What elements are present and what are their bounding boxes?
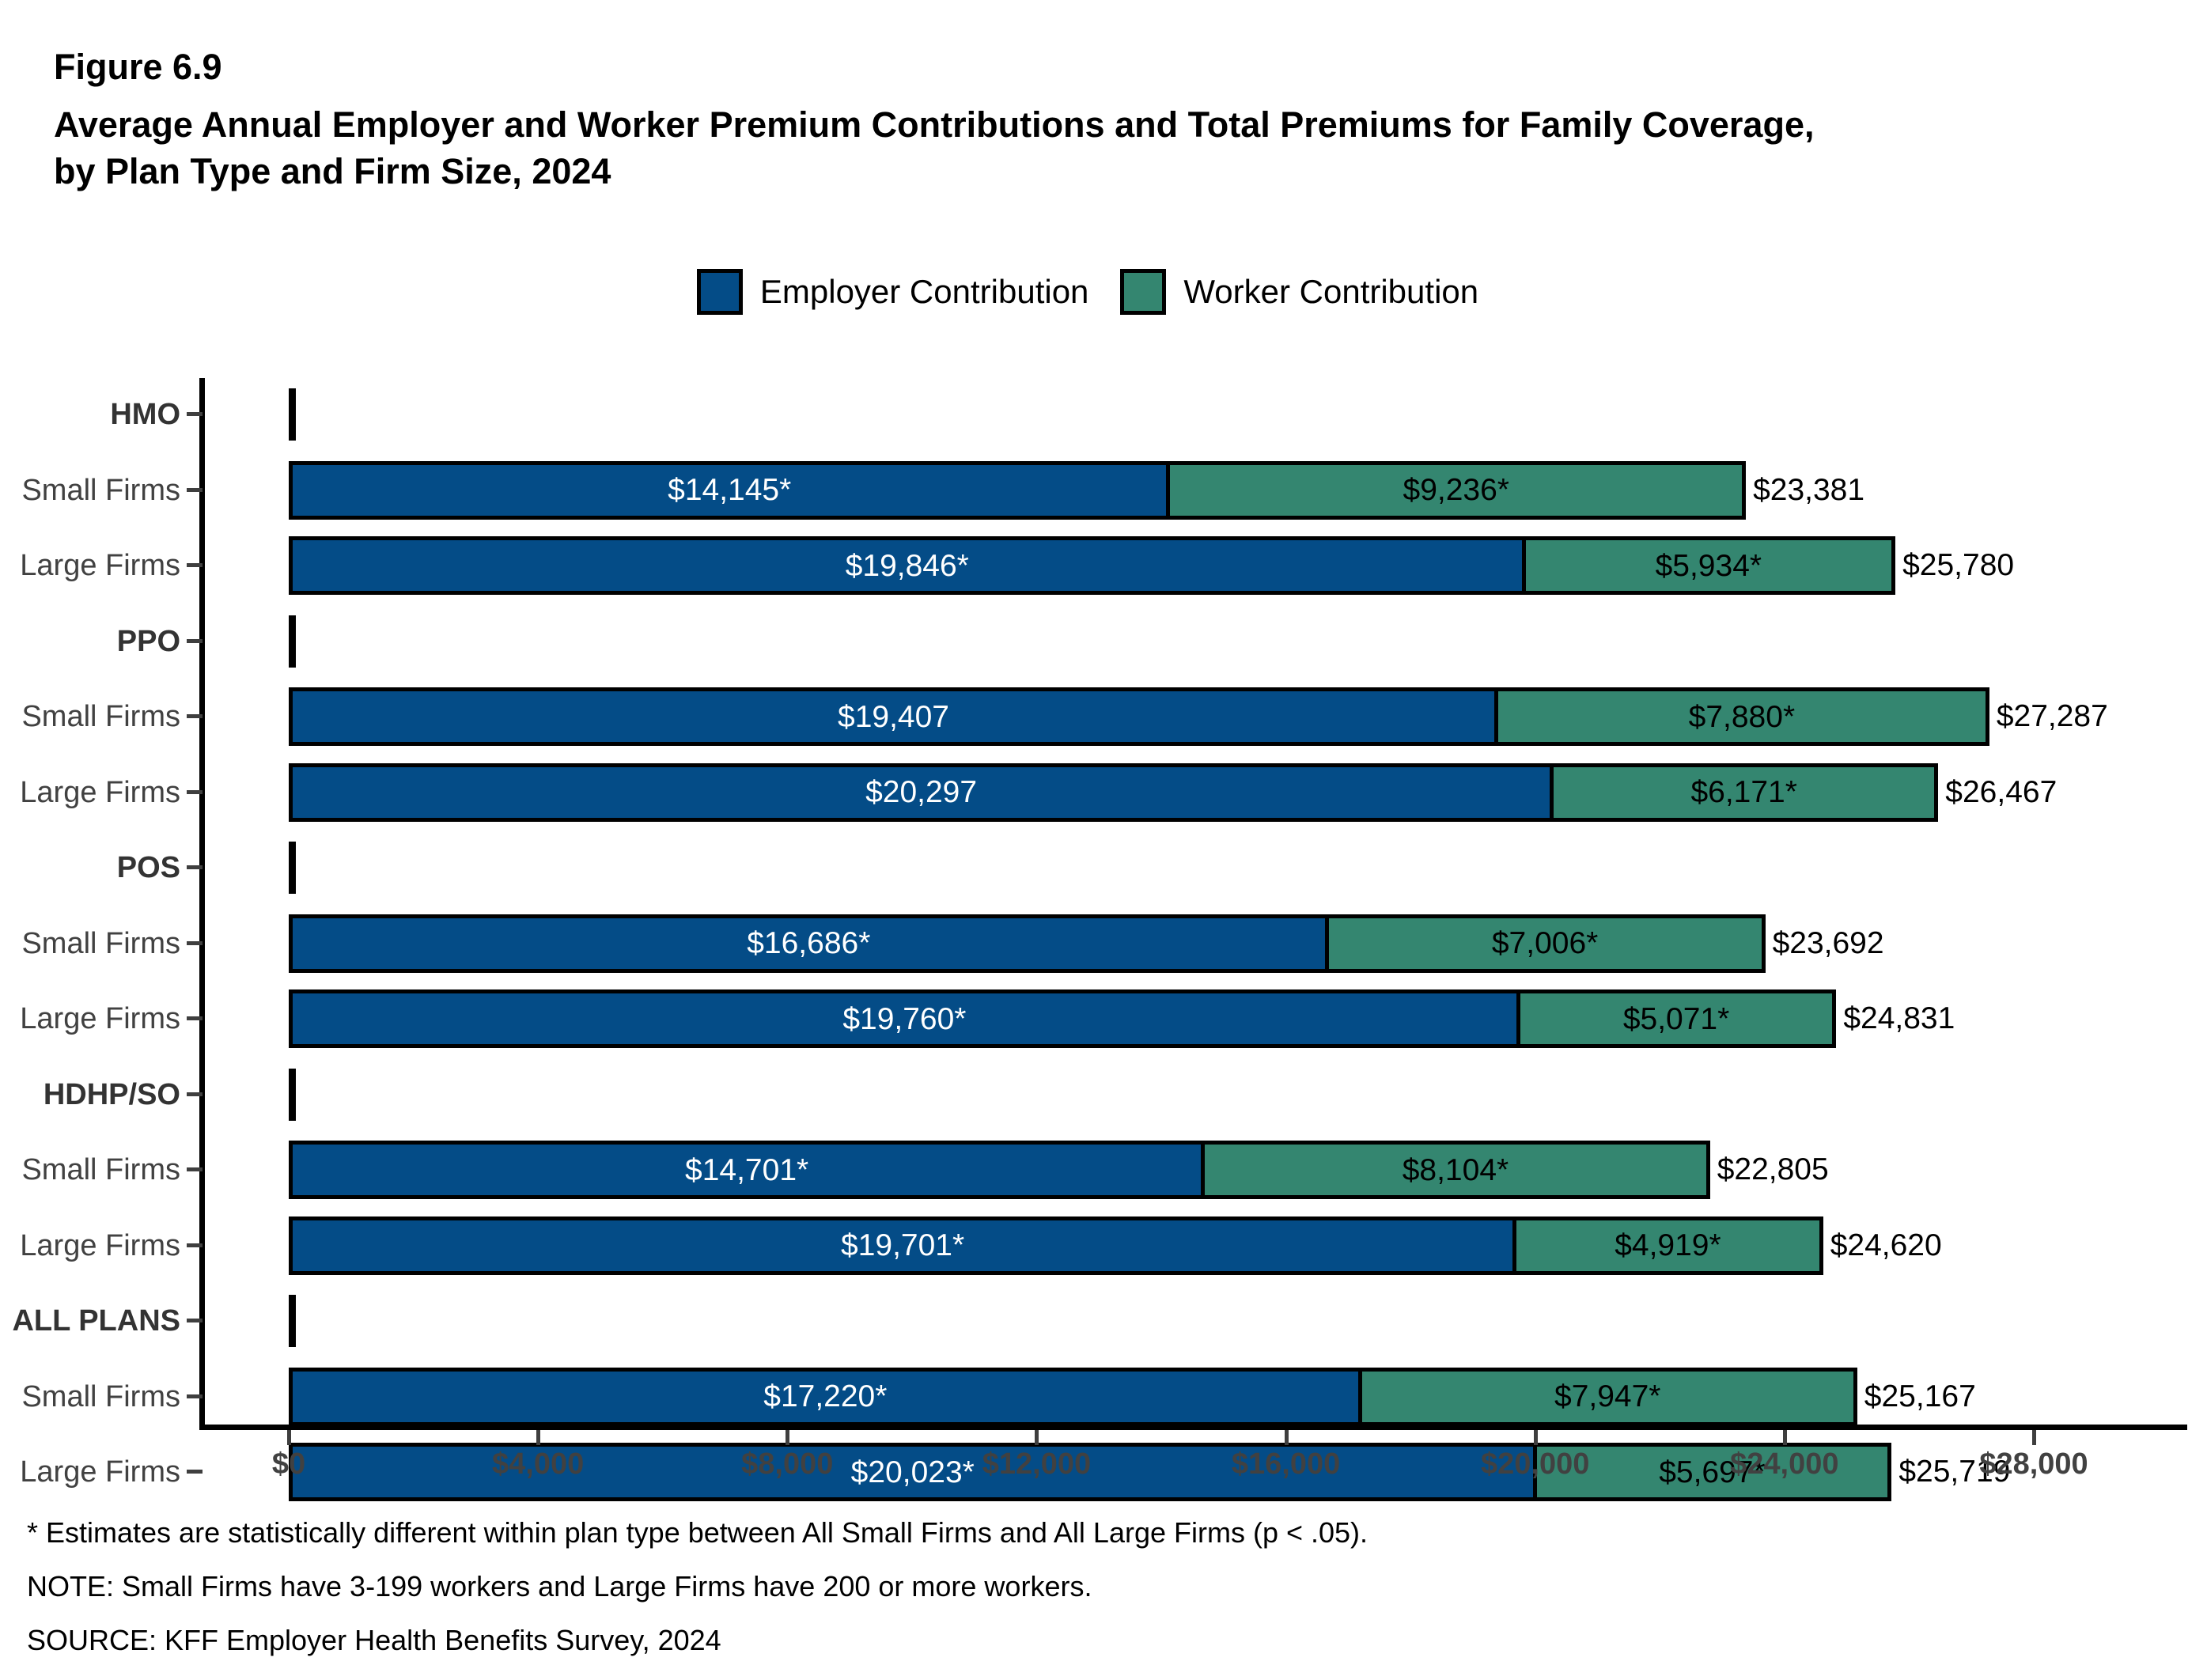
bar-segment-employer[interactable]: $20,023* xyxy=(289,1443,1537,1501)
axis-label-large-firms: Large Firms xyxy=(0,1000,180,1038)
x-axis-tick xyxy=(1285,1430,1289,1445)
bar-value-employer: $14,145* xyxy=(668,475,791,505)
bar-segment-employer[interactable]: $14,701* xyxy=(289,1141,1205,1199)
axis-label-small-firms: Small Firms xyxy=(0,1378,180,1416)
bar-row[interactable]: $14,145*$9,236*$23,381 xyxy=(289,461,2062,520)
bar-row[interactable]: $20,297$6,171*$26,467 xyxy=(289,763,2207,822)
bar-segment-employer[interactable]: $19,407 xyxy=(289,687,1498,746)
bar-value-employer: $20,297 xyxy=(865,777,977,808)
footnote-significance: * Estimates are statistically different … xyxy=(27,1519,2004,1547)
x-axis-tick-label: $4,000 xyxy=(492,1447,584,1481)
bar-segment-worker[interactable]: $5,071* xyxy=(1516,989,1837,1048)
axis-label-hmo: HMO xyxy=(0,395,180,433)
bar-value-worker: $8,104* xyxy=(1403,1155,1509,1186)
y-axis-tick xyxy=(187,790,203,794)
category-stub-mark xyxy=(289,1295,296,1347)
bar-total-label: $26,467 xyxy=(1938,763,2057,822)
bar-total-label: $23,692 xyxy=(1766,914,1884,973)
y-axis-tick xyxy=(187,1092,203,1096)
x-axis-tick xyxy=(1783,1430,1787,1445)
bar-row[interactable]: $16,686*$7,006*$23,692 xyxy=(289,914,2082,973)
bar-segment-employer[interactable]: $14,145* xyxy=(289,461,1170,520)
y-axis-tick xyxy=(187,941,203,945)
bar-value-worker: $6,171* xyxy=(1690,777,1796,808)
bar-value-employer: $20,023* xyxy=(851,1457,975,1488)
axis-label-small-firms: Small Firms xyxy=(0,471,180,509)
bar-value-employer: $19,846* xyxy=(846,551,969,581)
bar-value-worker: $7,006* xyxy=(1492,928,1598,959)
bar-value-worker: $7,880* xyxy=(1689,702,1795,732)
bar-segment-employer[interactable]: $17,220* xyxy=(289,1368,1362,1426)
y-axis-tick xyxy=(187,412,203,416)
x-axis-tick xyxy=(786,1430,789,1445)
footnote-source: SOURCE: KFF Employer Health Benefits Sur… xyxy=(27,1626,2004,1655)
bar-total-label: $23,381 xyxy=(1746,461,1864,520)
axis-label-large-firms: Large Firms xyxy=(0,547,180,585)
bar-row[interactable]: $19,846*$5,934*$25,780 xyxy=(289,536,2207,595)
y-axis-tick xyxy=(187,639,203,643)
y-axis-tick xyxy=(187,488,203,492)
y-axis-tick xyxy=(187,1167,203,1171)
y-axis-category-header: PPO xyxy=(0,622,2207,660)
bar-value-employer: $14,701* xyxy=(685,1155,808,1186)
footnotes: * Estimates are statistically different … xyxy=(27,1519,2004,1680)
y-axis-tick xyxy=(187,1016,203,1020)
bar-segment-employer[interactable]: $19,846* xyxy=(289,536,1526,595)
y-axis-tick xyxy=(187,563,203,567)
bar-value-worker: $9,236* xyxy=(1403,475,1509,505)
bar-value-worker: $5,071* xyxy=(1623,1004,1729,1035)
bar-segment-worker[interactable]: $6,171* xyxy=(1550,763,1938,822)
axis-label-ppo: PPO xyxy=(0,622,180,660)
y-axis-category-header: HDHP/SO xyxy=(0,1076,2207,1114)
bar-total-label: $27,287 xyxy=(1989,687,2108,746)
bar-row[interactable]: $17,220*$7,947*$25,167 xyxy=(289,1368,2174,1426)
bar-total-label: $24,620 xyxy=(1823,1216,1942,1275)
bar-value-employer: $19,407 xyxy=(838,702,949,732)
bar-segment-worker[interactable]: $7,947* xyxy=(1358,1368,1857,1426)
bar-segment-worker[interactable]: $8,104* xyxy=(1201,1141,1709,1199)
x-axis-tick-label: $8,000 xyxy=(741,1447,833,1481)
y-axis-category-header: HMO xyxy=(0,395,2207,433)
x-axis-tick-label: $0 xyxy=(272,1447,305,1481)
axis-label-large-firms: Large Firms xyxy=(0,1227,180,1265)
bar-total-label: $24,831 xyxy=(1836,989,1955,1048)
y-axis-tick xyxy=(187,714,203,718)
x-axis-tick-label: $28,000 xyxy=(1979,1447,2088,1481)
axis-label-pos: POS xyxy=(0,849,180,887)
bar-row[interactable]: $19,701*$4,919*$24,620 xyxy=(289,1216,2140,1275)
axis-label-hdhp-so: HDHP/SO xyxy=(0,1076,180,1114)
bar-total-label: $22,805 xyxy=(1710,1141,1829,1199)
axis-label-large-firms: Large Firms xyxy=(0,774,180,812)
bar-row[interactable]: $19,407$7,880*$27,287 xyxy=(289,687,2207,746)
axis-label-small-firms: Small Firms xyxy=(0,698,180,736)
y-axis-spine xyxy=(199,378,205,1430)
bar-total-label: $25,167 xyxy=(1857,1368,1976,1426)
x-axis-tick xyxy=(1035,1430,1039,1445)
bar-segment-worker[interactable]: $4,919* xyxy=(1512,1216,1823,1275)
bar-value-employer: $16,686* xyxy=(747,928,870,959)
x-axis-tick xyxy=(536,1430,540,1445)
x-axis-tick xyxy=(287,1430,291,1445)
axis-label-large-firms: Large Firms xyxy=(0,1453,180,1491)
bar-row[interactable]: $14,701*$8,104*$22,805 xyxy=(289,1141,2027,1199)
bar-segment-worker[interactable]: $5,934* xyxy=(1522,536,1896,595)
x-axis-tick-label: $16,000 xyxy=(1232,1447,1340,1481)
bar-segment-employer[interactable]: $16,686* xyxy=(289,914,1329,973)
y-axis-tick xyxy=(187,1470,203,1474)
bar-segment-employer[interactable]: $19,760* xyxy=(289,989,1520,1048)
bar-value-employer: $19,760* xyxy=(842,1004,966,1035)
bar-row[interactable]: $19,760*$5,071*$24,831 xyxy=(289,989,2152,1048)
y-axis-tick xyxy=(187,1394,203,1398)
category-stub-mark xyxy=(289,1069,296,1121)
bar-segment-employer[interactable]: $19,701* xyxy=(289,1216,1516,1275)
footnote-note: NOTE: Small Firms have 3-199 workers and… xyxy=(27,1572,2004,1601)
bar-segment-worker[interactable]: $7,880* xyxy=(1494,687,1989,746)
category-stub-mark xyxy=(289,842,296,894)
bar-segment-employer[interactable]: $20,297 xyxy=(289,763,1554,822)
bar-value-worker: $7,947* xyxy=(1554,1381,1660,1412)
category-stub-mark xyxy=(289,615,296,668)
bar-segment-worker[interactable]: $9,236* xyxy=(1166,461,1746,520)
bar-value-worker: $5,934* xyxy=(1656,551,1762,581)
y-axis-category-header: POS xyxy=(0,849,2207,887)
chart-plot-area: HMOSmall Firms$14,145*$9,236*$23,381Larg… xyxy=(0,0,2207,1661)
axis-label-small-firms: Small Firms xyxy=(0,1151,180,1189)
y-axis-tick xyxy=(187,865,203,869)
x-axis-tick-label: $24,000 xyxy=(1730,1447,1838,1481)
y-axis-category-header: ALL PLANS xyxy=(0,1302,2207,1340)
x-axis-tick-label: $12,000 xyxy=(982,1447,1091,1481)
bar-segment-worker[interactable]: $7,006* xyxy=(1325,914,1766,973)
y-axis-tick xyxy=(187,1243,203,1247)
bar-value-employer: $17,220* xyxy=(763,1381,887,1412)
axis-label-small-firms: Small Firms xyxy=(0,925,180,963)
y-axis-tick xyxy=(187,1319,203,1322)
x-axis-tick xyxy=(2032,1430,2036,1445)
x-axis-tick-label: $20,000 xyxy=(1481,1447,1589,1481)
bar-total-label: $25,780 xyxy=(1895,536,2014,595)
axis-label-all-plans: ALL PLANS xyxy=(0,1302,180,1340)
bar-value-employer: $19,701* xyxy=(841,1230,964,1261)
x-axis-tick xyxy=(1534,1430,1538,1445)
category-stub-mark xyxy=(289,388,296,441)
bar-value-worker: $4,919* xyxy=(1615,1230,1721,1261)
